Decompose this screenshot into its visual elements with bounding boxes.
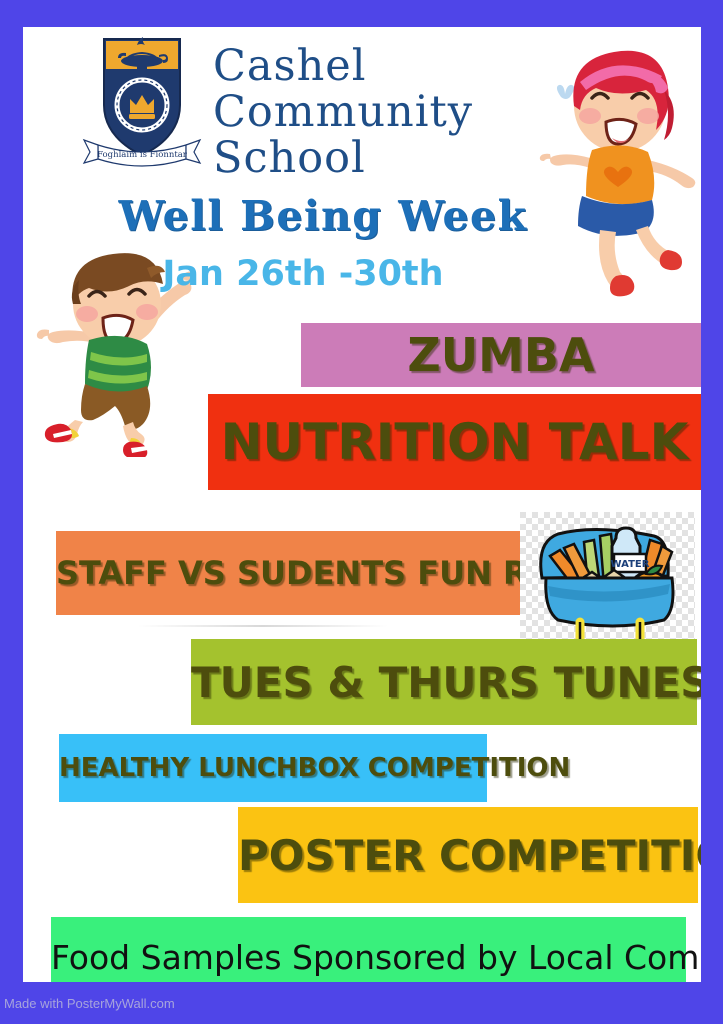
- divider: [138, 625, 388, 627]
- poster-canvas: Foghlaim is Fionntar Cashel Community Sc…: [0, 0, 723, 1024]
- event-label: ZUMBA: [301, 328, 701, 382]
- event-bar-zumba: ZUMBA: [301, 323, 701, 387]
- event-bar-healthy-lunchbox-competition: HEALTHY LUNCHBOX COMPETITION: [59, 734, 487, 802]
- event-bar-nutrition-talk: NUTRITION TALK: [208, 394, 701, 490]
- school-crest: Foghlaim is Fionntar: [80, 33, 204, 173]
- page-title: Well Being Week: [23, 192, 623, 240]
- event-bar-tues-thurs-tunes: TUES & THURS TUNES: [191, 639, 697, 725]
- school-name: Cashel Community School: [213, 43, 543, 181]
- event-label: STAFF VS SUDENTS FUN RACES: [56, 554, 553, 592]
- event-bar-staff-vs-students-fun-races: STAFF VS SUDENTS FUN RACES: [56, 531, 553, 615]
- event-label: NUTRITION TALK: [208, 413, 701, 471]
- event-label: TUES & THURS TUNES: [191, 658, 697, 707]
- event-label: HEALTHY LUNCHBOX COMPETITION: [59, 753, 487, 783]
- event-label: POSTER COMPETITION: [238, 831, 698, 880]
- poster-page: Foghlaim is Fionntar Cashel Community Sc…: [23, 27, 701, 982]
- event-bar-poster-competition: POSTER COMPETITION: [238, 807, 698, 903]
- crest-motto: Foghlaim is Fionntar: [97, 150, 188, 160]
- event-bar-food-samples: Food Samples Sponsored by Local Companie…: [51, 917, 686, 982]
- event-dates: Jan 26th -30th: [23, 254, 583, 294]
- postermywall-watermark: Made with PosterMyWall.com: [4, 996, 175, 1011]
- water-bottle-label: WATER: [611, 559, 650, 570]
- lunchbox-clipart: WATER: [520, 512, 695, 647]
- event-label: Food Samples Sponsored by Local Companie…: [51, 938, 686, 977]
